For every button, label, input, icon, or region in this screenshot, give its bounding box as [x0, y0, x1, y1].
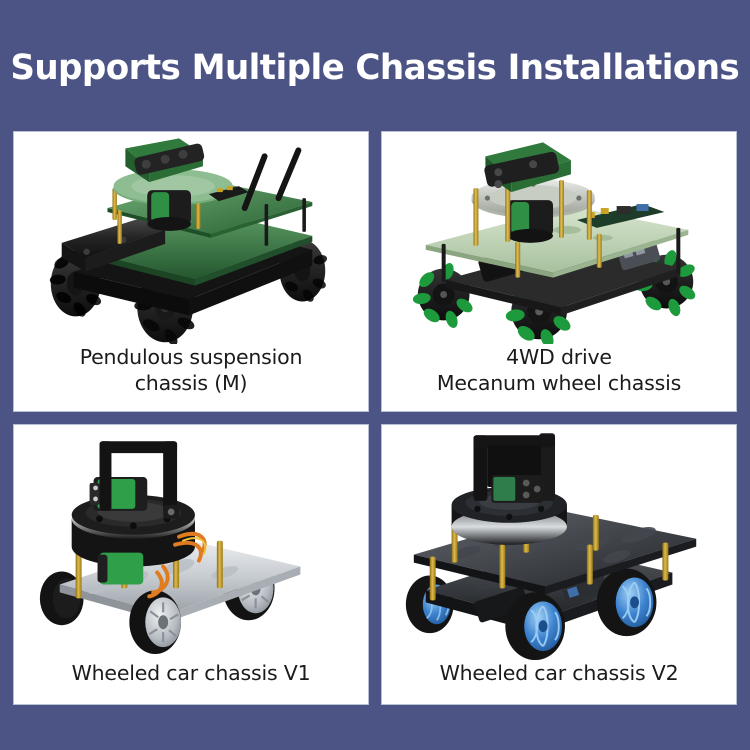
- wheel-front-left: [129, 590, 181, 654]
- chassis-caption-wheeled-v2: Wheeled car chassis V2: [382, 660, 736, 704]
- robot-4wd-mecanum-wheel-chassis-illustration: [382, 132, 736, 344]
- chassis-image-wheeled-v1: [14, 425, 368, 660]
- promo-banner: Supports Multiple Chassis Installations: [0, 0, 750, 750]
- chassis-caption-pendulous-suspension: Pendulous suspension chassis (M): [14, 344, 368, 411]
- chassis-caption-wheeled-v1: Wheeled car chassis V1: [14, 660, 368, 704]
- tilt-servo: [98, 553, 144, 585]
- chassis-image-4wd-mecanum: [382, 132, 736, 344]
- chassis-card-grid: Pendulous suspension chassis (M): [13, 131, 737, 705]
- robot-wheeled-car-chassis-v1-illustration: [14, 425, 368, 660]
- chassis-card-pendulous-suspension[interactable]: Pendulous suspension chassis (M): [13, 131, 369, 412]
- page-title: Supports Multiple Chassis Installations: [11, 51, 740, 86]
- chassis-card-wheeled-v1[interactable]: Wheeled car chassis V1: [13, 424, 369, 705]
- camera-module: [491, 475, 543, 503]
- chassis-caption-4wd-mecanum: 4WD drive Mecanum wheel chassis: [382, 344, 736, 411]
- turret-servo: [147, 190, 191, 231]
- turret-servo: [507, 200, 553, 243]
- wheel-front-left: [505, 592, 565, 660]
- pan-servo: [90, 477, 148, 511]
- chassis-card-4wd-mecanum[interactable]: 4WD drive Mecanum wheel chassis: [381, 131, 737, 412]
- chassis-card-wheeled-v2[interactable]: Wheeled car chassis V2: [381, 424, 737, 705]
- chassis-image-wheeled-v2: [382, 425, 736, 660]
- robot-wheeled-car-chassis-v2-illustration: [382, 425, 736, 660]
- header: Supports Multiple Chassis Installations: [0, 0, 750, 131]
- robot-pendulous-suspension-chassis-illustration: [14, 132, 368, 344]
- wheel-front-right: [597, 569, 657, 637]
- chassis-image-pendulous-suspension: [14, 132, 368, 344]
